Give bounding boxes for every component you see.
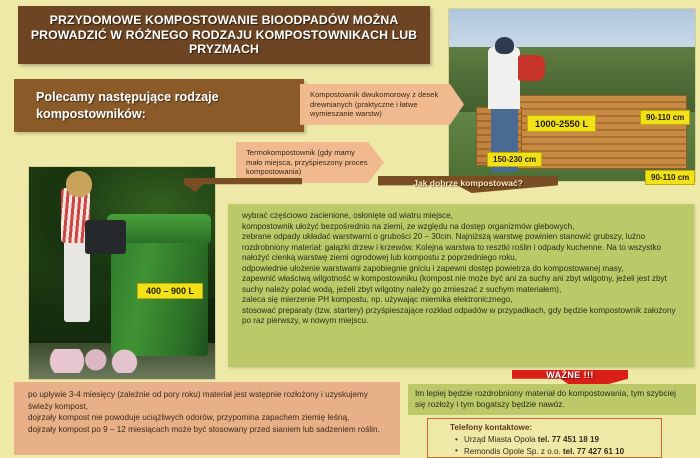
- note-text: Im lepiej będzie rozdrobniony materiał d…: [415, 388, 688, 411]
- contact-item: Remondis Opole Sp. z o.o. tel. 77 427 61…: [436, 446, 655, 458]
- photo-woman-hair: [66, 171, 92, 196]
- instructions-body: wybrać częściowo zacienione, osłonięte o…: [228, 204, 694, 327]
- banner-important-label: WAŻNE !!!: [512, 370, 628, 380]
- contact-item: Urząd Miasta Opola tel. 77 451 18 19: [436, 434, 655, 446]
- dimension-height-wooden-top: 90-110 cm: [640, 110, 690, 125]
- panel-note: Im lepiej będzie rozdrobniony materiał d…: [408, 384, 696, 415]
- instruction-line: odpowiednie ułożenie warstwami zapobiegn…: [242, 264, 682, 275]
- photo-wooden-composter: [448, 8, 696, 182]
- photo-flowers: [44, 349, 159, 372]
- instruction-line: zapewnić właściwą wilgotność w kompostow…: [242, 274, 682, 295]
- photo-red-bucket: [518, 55, 545, 81]
- subheader-title: Polecamy następujące rodzaje kompostowni…: [14, 89, 304, 123]
- subheader-bar: Polecamy następujące rodzaje kompostowni…: [14, 79, 304, 132]
- contact-phone[interactable]: tel. 77 427 61 10: [563, 447, 624, 456]
- contact-list: Urząd Miasta Opola tel. 77 451 18 19 Rem…: [436, 434, 655, 457]
- header-title-bar: PRZYDOMOWE KOMPOSTOWANIE BIOODPADÓW MOŻN…: [18, 6, 430, 64]
- result-line: dojrzały kompost nie powoduje uciążliwyc…: [28, 412, 390, 424]
- instruction-line: kompostownik ułożyć bezpośrednio na ziem…: [242, 222, 682, 233]
- page-title: PRZYDOMOWE KOMPOSTOWANIE BIOODPADÓW MOŻN…: [18, 13, 430, 56]
- dimension-volume-wooden: 1000-2550 L: [527, 115, 596, 132]
- dimension-width-wooden: 150-230 cm: [487, 152, 542, 167]
- contact-phone[interactable]: tel. 77 451 18 19: [538, 435, 599, 444]
- contact-name: Remondis Opole Sp. z o.o.: [464, 447, 561, 456]
- instruction-line: zaleca się mierzenie PH kompostu, np. uż…: [242, 295, 682, 306]
- contact-name: Urząd Miasta Opola: [464, 435, 536, 444]
- photo-kitchen-caddy: [85, 220, 126, 254]
- contact-box: Telefony kontaktowe: Urząd Miasta Opola …: [427, 418, 662, 458]
- dimension-height-wooden-bottom: 90-110 cm: [645, 170, 695, 185]
- results-body: po upływie 3-4 miesięcy (zależnie od por…: [14, 382, 400, 435]
- callout-two-chamber-composter: Kompostownik dwukomorowy z desek drewnia…: [300, 84, 464, 125]
- dimension-volume-thermo: 400 – 900 L: [137, 283, 203, 299]
- result-line: po upływie 3-4 miesięcy (zależnie od por…: [28, 389, 390, 412]
- panel-results: po upływie 3-4 miesięcy (zależnie od por…: [14, 382, 400, 455]
- photo-person-torso: [488, 47, 520, 109]
- instruction-line: wybrać częściowo zacienione, osłonięte o…: [242, 211, 682, 222]
- contact-title: Telefony kontaktowe:: [450, 423, 655, 432]
- instruction-line: zebrane odpady układać warstwami o grubo…: [242, 232, 682, 264]
- banner-how-to-compost-label: Jak dobrze kompostować?: [378, 176, 558, 189]
- panel-instructions: wybrać częściowo zacienione, osłonięte o…: [228, 204, 694, 367]
- photo-thermo-composter: [28, 166, 216, 380]
- callout-thermocomposter: Termokompostownik (gdy mamy mało miejsca…: [236, 142, 384, 183]
- photo-person-head: [495, 37, 515, 54]
- instruction-line: stosować preparaty (tzw. startery) przyś…: [242, 306, 682, 327]
- result-line: dojrzały kompost po 9 – 12 miesiącach mo…: [28, 424, 390, 436]
- poster-root: PRZYDOMOWE KOMPOSTOWANIE BIOODPADÓW MOŻN…: [0, 0, 700, 455]
- note-body: Im lepiej będzie rozdrobniony materiał d…: [408, 384, 696, 411]
